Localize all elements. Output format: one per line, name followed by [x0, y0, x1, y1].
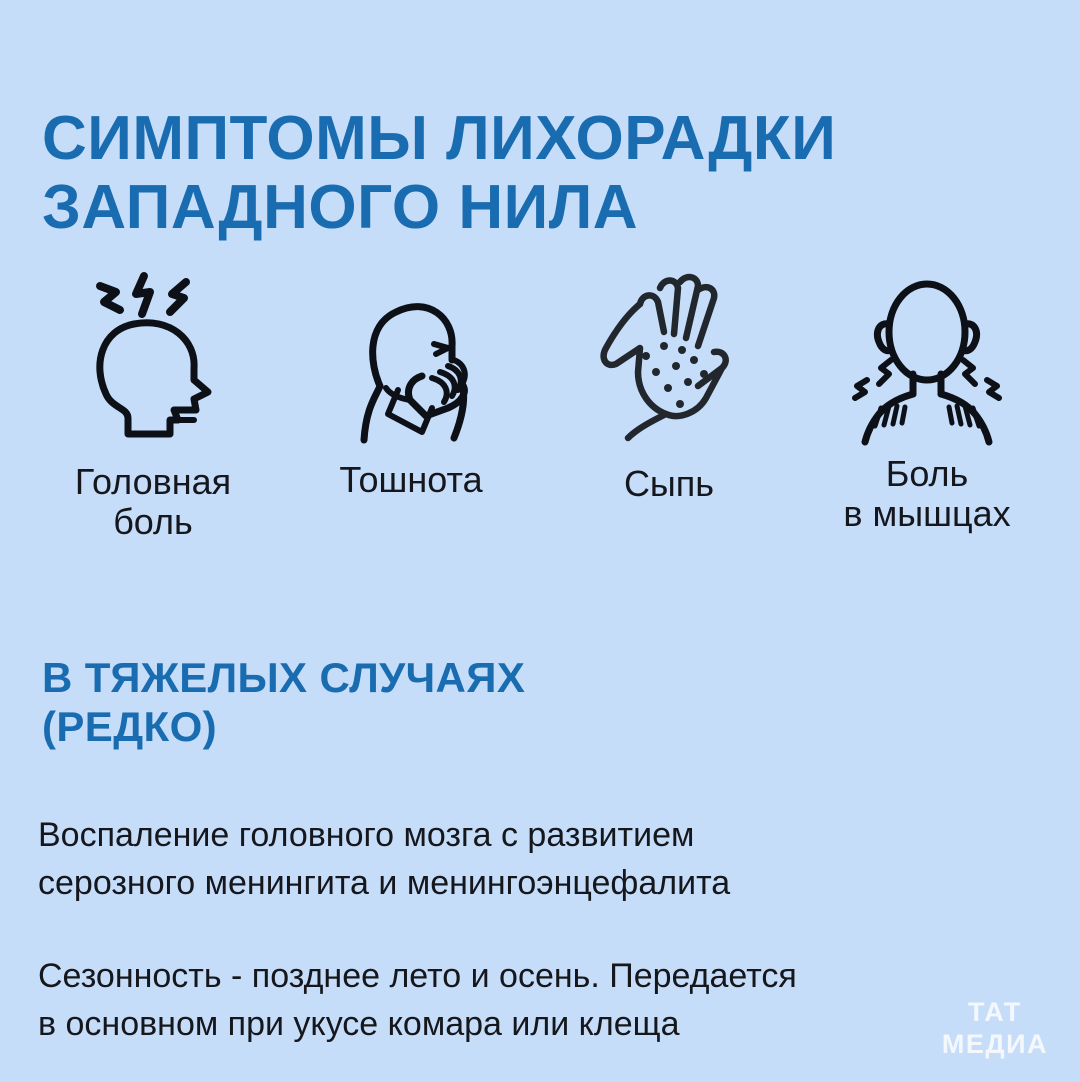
symptom-label: Головная боль	[75, 462, 231, 543]
page-title: СИМПТОМЫ ЛИХОРАДКИ ЗАПАДНОГО НИЛА	[42, 104, 1002, 243]
infographic-poster: СИМПТОМЫ ЛИХОРАДКИ ЗАПАДНОГО НИЛА Головн…	[0, 0, 1080, 1080]
symptom-item-muscle-pain: Боль в мышцах	[802, 268, 1052, 535]
logo-line-1: ТАТ	[942, 997, 1048, 1028]
tatmedia-logo-watermark: ТАТ МЕДИА	[942, 997, 1048, 1060]
section-heading-severe-cases: В ТЯЖЕЛЫХ СЛУЧАЯХ (РЕДКО)	[42, 653, 942, 752]
symptom-item-nausea: Тошнота	[286, 268, 536, 500]
symptom-label: Сыпь	[624, 464, 714, 504]
paragraph-seasonality: Сезонность - позднее лето и осень. Перед…	[38, 953, 1018, 1048]
logo-line-2: МЕДИА	[942, 1029, 1048, 1060]
head-lightning-icon	[78, 268, 228, 444]
symptom-label: Тошнота	[339, 460, 482, 500]
page-title-line-1: СИМПТОМЫ ЛИХОРАДКИ	[42, 104, 836, 173]
section-heading-line-2: (РЕДКО)	[42, 702, 942, 752]
section-heading-line-1: В ТЯЖЕЛЫХ СЛУЧАЯХ	[42, 654, 525, 701]
page-title-line-2: ЗАПАДНОГО НИЛА	[42, 173, 1002, 242]
hand-rash-dots-icon	[594, 268, 744, 444]
symptom-item-headache: Головная боль	[28, 268, 278, 543]
symptoms-row: Головная боль	[0, 268, 1080, 543]
symptom-item-rash: Сыпь	[544, 268, 794, 504]
head-hand-mouth-icon	[336, 268, 486, 444]
paragraph-encephalitis: Воспаление головного мозга с развитием с…	[38, 812, 1018, 907]
head-shoulders-pain-icon	[837, 268, 1017, 444]
body-text-block: Воспаление головного мозга с развитием с…	[38, 778, 1018, 1082]
symptom-label: Боль в мышцах	[843, 454, 1010, 535]
